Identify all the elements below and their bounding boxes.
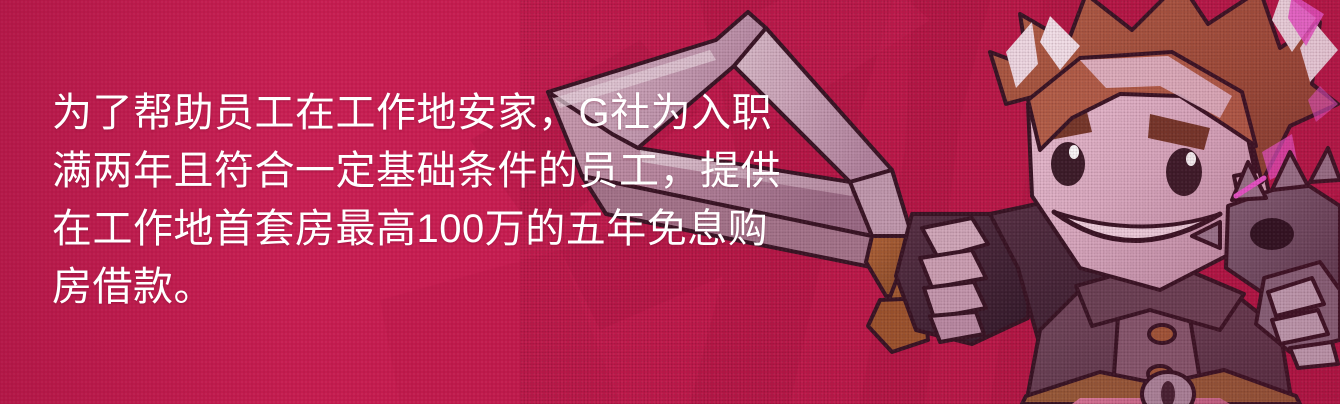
promo-banner: 为了帮助员工在工作地安家，G社为入职 满两年且符合一定基础条件的员工，提供 在工… bbox=[0, 0, 1340, 404]
copy-line-3: 在工作地首套房最高100万的五年免息购 bbox=[52, 200, 812, 258]
copy-line-1: 为了帮助员工在工作地安家，G社为入职 bbox=[52, 84, 812, 142]
copy-line-2: 满两年且符合一定基础条件的员工，提供 bbox=[52, 142, 812, 200]
copy-line-4: 房借款。 bbox=[52, 258, 812, 316]
banner-copy: 为了帮助员工在工作地安家，G社为入职 满两年且符合一定基础条件的员工，提供 在工… bbox=[52, 84, 812, 316]
